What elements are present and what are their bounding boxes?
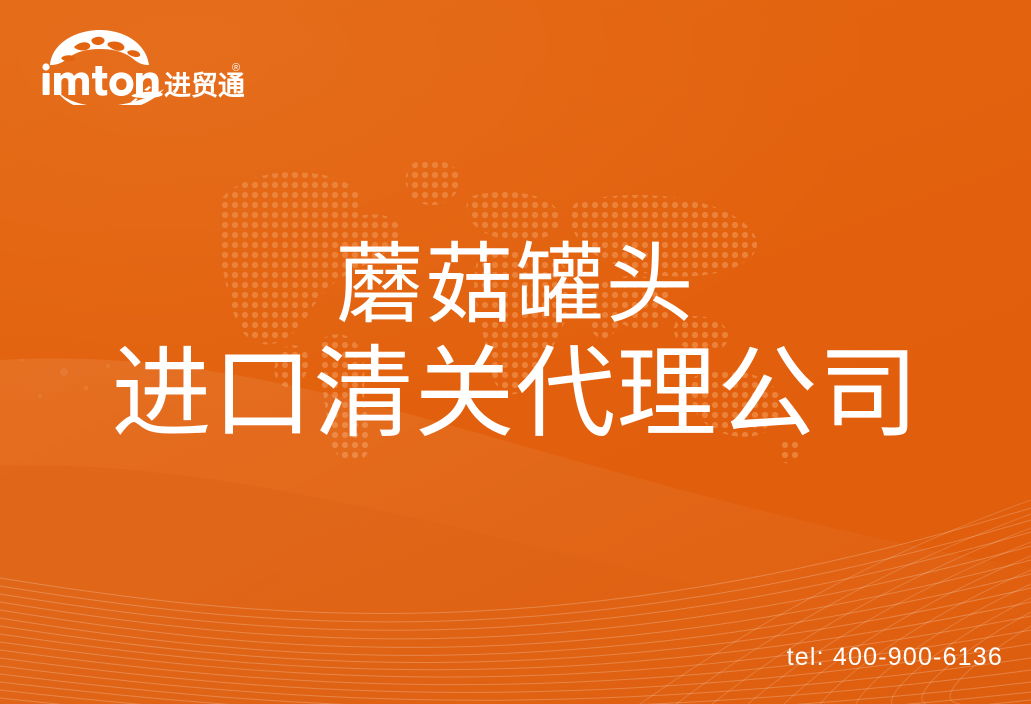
brand-logo[interactable]: 进贸通 ® <box>36 27 244 105</box>
logo-wordmark <box>42 63 158 96</box>
globe-arc-icon <box>50 30 149 65</box>
contact-phone[interactable]: tel: 400-900-6136 <box>787 643 1003 672</box>
headline-line-2: 进口清关代理公司 <box>0 336 1031 452</box>
trademark-symbol: ® <box>232 62 240 74</box>
page-title: 蘑菇罐头 进口清关代理公司 <box>0 234 1031 452</box>
logo-chinese-name: 进贸通 <box>164 71 244 102</box>
line-fan-pattern <box>0 500 1031 704</box>
headline-line-1: 蘑菇罐头 <box>0 234 1031 336</box>
promo-banner: 进贸通 ® 蘑菇罐头 进口清关代理公司 tel: 400-900-6136 <box>0 0 1031 704</box>
